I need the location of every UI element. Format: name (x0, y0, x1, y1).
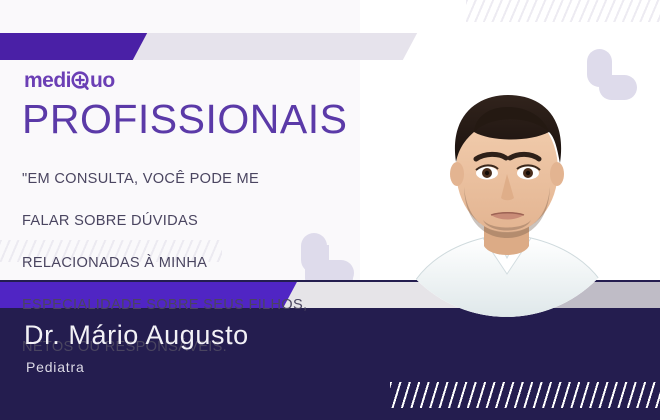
quote-line: RELACIONADAS À MINHA (22, 255, 207, 271)
logo-text-before: medi (24, 70, 71, 91)
quote-line: ESPECIALIDADE SOBRE SEUS FILHOS, (22, 297, 307, 313)
header-band-group (0, 33, 660, 60)
q-plus-icon (71, 71, 90, 90)
header-band-grey (133, 33, 417, 60)
hatch-bottom-right (390, 382, 660, 408)
doctor-specialty: Pediatra (26, 360, 85, 374)
logo-text-after: uo (90, 70, 115, 91)
rounded-l-shape-icon (586, 48, 644, 106)
doctor-name: Dr. Mário Augusto (24, 322, 249, 349)
page-title: PROFISSIONAIS (22, 99, 347, 140)
quote-line: FALAR SOBRE DÚVIDAS (22, 213, 198, 229)
promo-card: medi uo PROFISSIONAIS "EM CONSULTA, VOCÊ… (0, 0, 660, 420)
mediquo-logo[interactable]: medi uo (24, 68, 115, 92)
quote-line: "EM CONSULTA, VOCÊ PODE ME (22, 171, 259, 187)
hatch-top-right (466, 0, 660, 22)
